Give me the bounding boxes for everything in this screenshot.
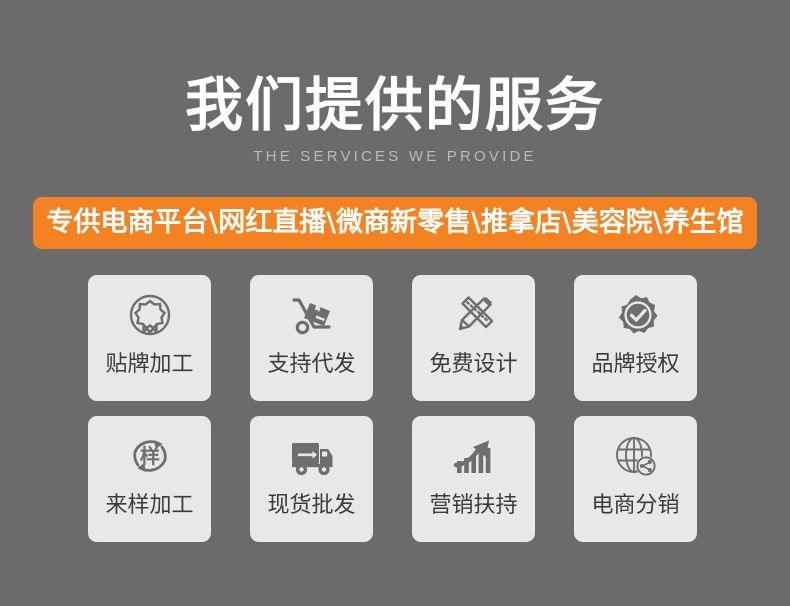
service-card-free-design[interactable]: 免费设计 xyxy=(412,275,535,401)
service-card-label: 免费设计 xyxy=(429,351,517,379)
service-card-sample-processing[interactable]: 样 来样加工 xyxy=(88,416,211,542)
service-card-label: 电商分销 xyxy=(591,492,679,520)
service-card-stock-wholesale[interactable]: 现货批发 xyxy=(250,416,373,542)
quality-seal-icon xyxy=(122,289,178,345)
delivery-truck-icon xyxy=(284,430,340,486)
growth-chart-icon xyxy=(446,430,502,486)
service-card-oem[interactable]: 贴牌加工 xyxy=(88,275,211,401)
services-grid: 贴牌加工 支持代发 xyxy=(88,275,702,542)
service-card-label: 支持代发 xyxy=(267,351,355,379)
service-section: 我们提供的服务 THE SERVICES WE PROVIDE 专供电商平台\网… xyxy=(0,0,790,606)
service-card-label: 现货批发 xyxy=(267,492,355,520)
service-card-label: 来样加工 xyxy=(105,492,193,520)
service-card-brand-authorization[interactable]: 品牌授权 xyxy=(574,275,697,401)
page-subtitle: THE SERVICES WE PROVIDE xyxy=(0,148,790,166)
service-card-label: 品牌授权 xyxy=(591,351,679,379)
svg-text:样: 样 xyxy=(140,444,160,468)
pencil-ruler-icon xyxy=(446,289,502,345)
service-card-dropship[interactable]: 支持代发 xyxy=(250,275,373,401)
page-title: 我们提供的服务 xyxy=(0,72,790,138)
channels-banner: 专供电商平台\网红直播\微商新零售\推拿店\美容院\养生馆 xyxy=(33,197,757,249)
certified-check-badge-icon xyxy=(608,289,664,345)
service-card-marketing-support[interactable]: 营销扶持 xyxy=(412,416,535,542)
service-card-label: 营销扶持 xyxy=(429,492,517,520)
channels-banner-text: 专供电商平台\网红直播\微商新零售\推拿店\美容院\养生馆 xyxy=(46,208,743,238)
service-card-label: 贴牌加工 xyxy=(105,351,193,379)
sample-recycle-icon: 样 xyxy=(122,430,178,486)
globe-share-icon xyxy=(608,430,664,486)
service-card-ecommerce-distribution[interactable]: 电商分销 xyxy=(574,416,697,542)
hand-truck-icon xyxy=(284,289,340,345)
section-header: 我们提供的服务 THE SERVICES WE PROVIDE xyxy=(0,72,790,166)
